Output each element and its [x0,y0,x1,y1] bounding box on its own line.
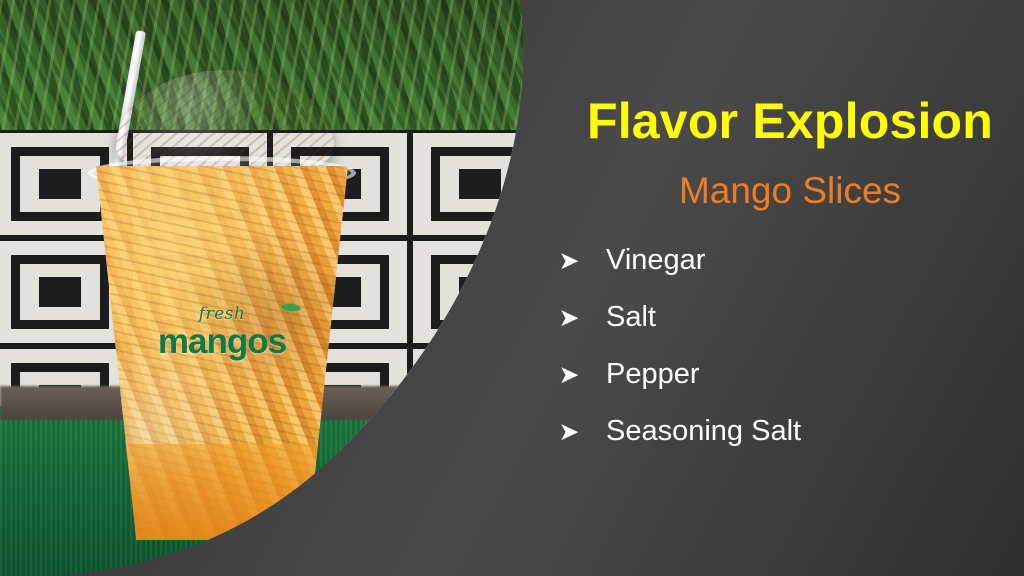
list-item: ➤ Seasoning Salt [542,403,1012,460]
list-item: ➤ Vinegar [542,232,1012,289]
list-item-label: Seasoning Salt [596,415,801,448]
arrow-bullet-icon: ➤ [542,303,596,332]
cup-brand-logo: fresh mangos [158,306,286,359]
list-item-label: Vinegar [596,244,705,277]
mango-cup: fresh mangos [88,70,356,540]
list-item-label: Salt [596,301,656,334]
arrow-bullet-icon: ➤ [542,360,596,389]
arrow-bullet-icon: ➤ [542,246,596,275]
cup-logo-script-text: fresh [158,306,286,323]
text-panel: Flavor Explosion Mango Slices ➤ Vinegar … [520,0,1024,576]
list-item-label: Pepper [596,358,700,391]
cup-logo-brand-text: mangos [158,324,286,359]
slide-title: Flavor Explosion [560,92,1020,150]
slide-canvas: fresh mangos Flavor Explosion Mango Slic… [0,0,1024,576]
ingredient-list: ➤ Vinegar ➤ Salt ➤ Pepper ➤ Seasoning Sa… [542,232,1012,460]
slide-subtitle: Mango Slices [560,170,1020,212]
arrow-bullet-icon: ➤ [542,417,596,446]
list-item: ➤ Pepper [542,346,1012,403]
list-item: ➤ Salt [542,289,1012,346]
